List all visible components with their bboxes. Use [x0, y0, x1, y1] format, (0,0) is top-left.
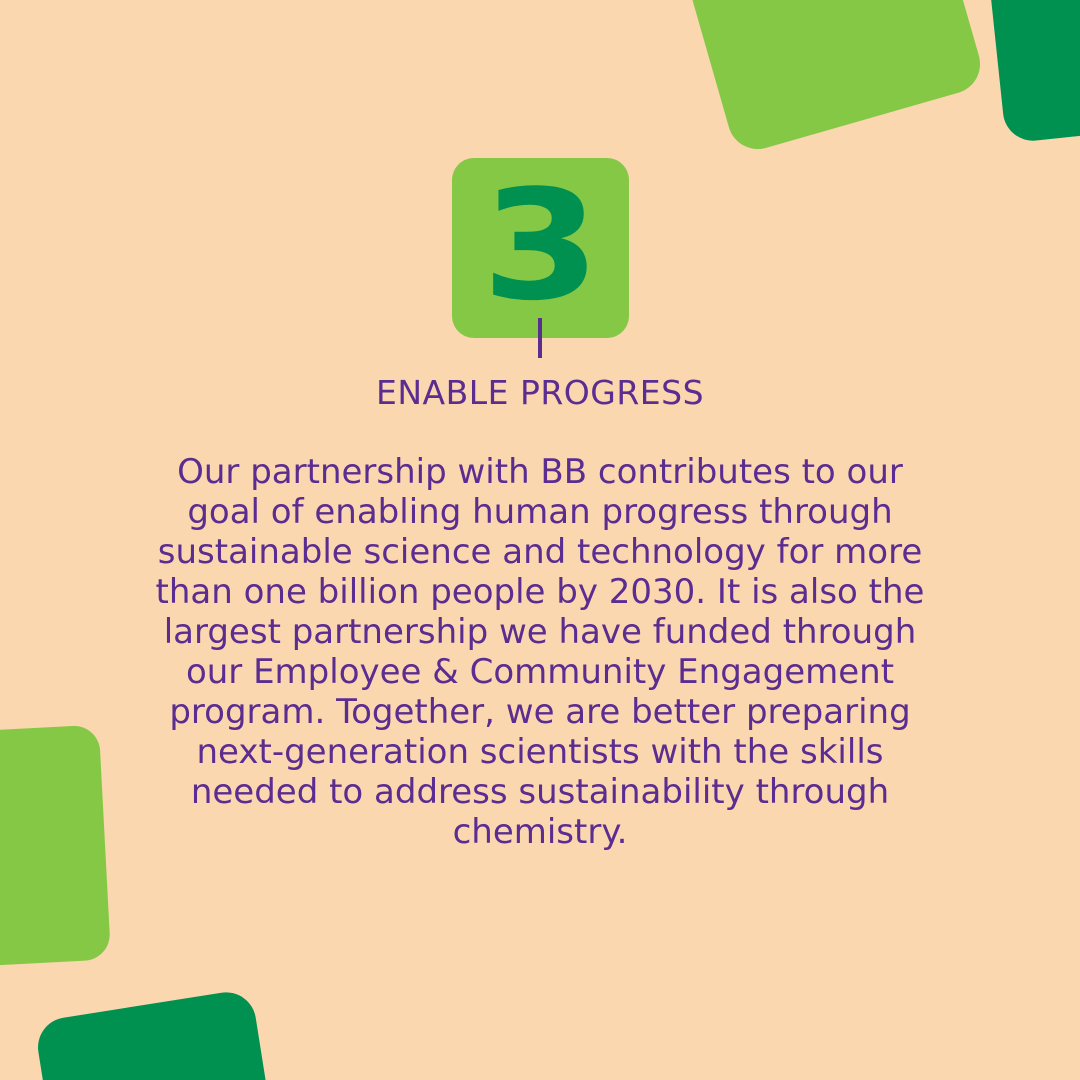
badge-connector-line — [538, 318, 542, 358]
step-badge-group: 3 — [0, 158, 1080, 338]
page-title: ENABLE PROGRESS — [0, 373, 1080, 412]
decorative-square-bottom-dark — [34, 988, 283, 1080]
decorative-square-top-right-light — [685, 0, 987, 156]
decorative-square-bottom-left-light — [0, 725, 111, 969]
step-number-label: 3 — [482, 170, 598, 322]
body-paragraph: Our partnership with BB contributes to o… — [140, 452, 940, 852]
decorative-square-top-right-dark — [985, 0, 1080, 144]
step-number-badge: 3 — [452, 158, 629, 338]
slide-canvas: 3 ENABLE PROGRESS Our partnership with B… — [0, 0, 1080, 1080]
